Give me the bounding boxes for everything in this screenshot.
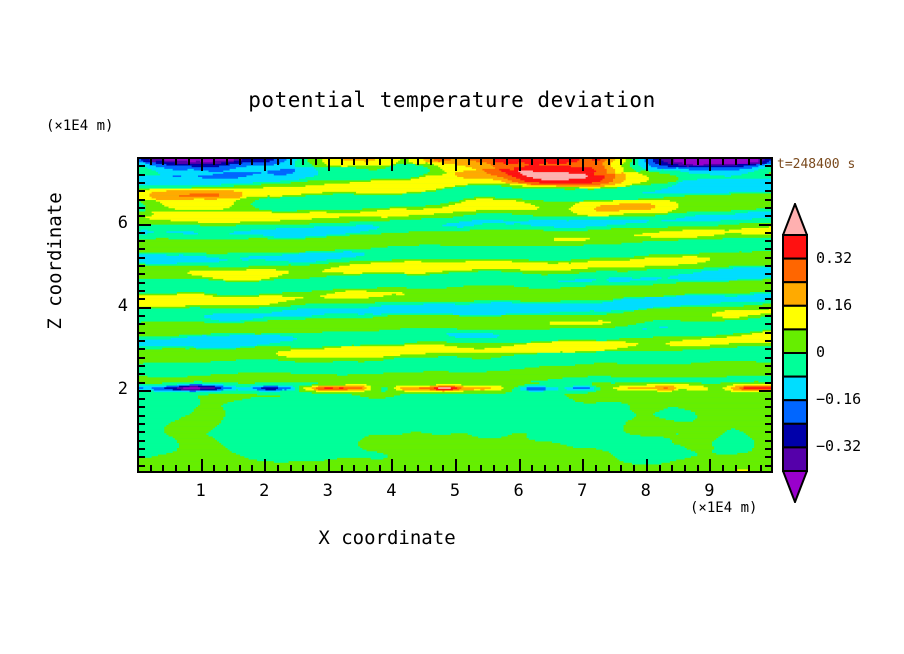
axis-tick	[138, 415, 145, 417]
axis-tick	[138, 456, 145, 458]
axis-tick	[684, 158, 686, 165]
axis-tick	[765, 440, 772, 442]
axis-tick	[480, 465, 482, 472]
axis-tick	[765, 165, 772, 167]
axis-tick	[138, 290, 145, 292]
axis-tick	[722, 465, 724, 472]
axis-tick	[251, 465, 253, 472]
axis-tick	[264, 158, 266, 171]
colorbar-gradient	[782, 203, 808, 503]
axis-tick	[138, 406, 145, 408]
axis-tick	[759, 307, 772, 309]
axis-tick	[341, 158, 343, 165]
axis-tick	[226, 465, 228, 472]
axis-tick	[328, 459, 330, 472]
axis-tick	[391, 158, 393, 171]
axis-tick	[366, 158, 368, 165]
axis-tick	[138, 248, 145, 250]
axis-tick	[557, 158, 559, 165]
y-tick-label: 6	[98, 213, 128, 233]
axis-tick	[722, 158, 724, 165]
axis-tick	[608, 465, 610, 472]
axis-tick	[379, 158, 381, 165]
axis-tick	[544, 465, 546, 472]
axis-tick	[315, 465, 317, 472]
axis-tick	[290, 158, 292, 165]
colorbar-tick-label: −0.16	[816, 390, 861, 408]
axis-tick	[277, 465, 279, 472]
axis-tick	[430, 158, 432, 165]
x-tick-label: 1	[186, 481, 216, 501]
axis-tick	[684, 465, 686, 472]
axis-tick	[765, 282, 772, 284]
axis-tick	[506, 465, 508, 472]
x-tick-label: 5	[440, 481, 470, 501]
axis-tick	[138, 448, 145, 450]
axis-tick	[277, 158, 279, 165]
axis-tick	[379, 465, 381, 472]
axis-tick	[239, 158, 241, 165]
axis-tick	[765, 298, 772, 300]
axis-tick	[150, 158, 152, 165]
axis-tick	[138, 215, 145, 217]
colorbar	[782, 203, 808, 503]
axis-tick	[188, 158, 190, 165]
axis-tick	[765, 240, 772, 242]
axis-tick	[138, 307, 151, 309]
axis-tick	[765, 257, 772, 259]
colorbar-tick-label: 0	[816, 343, 825, 361]
axis-tick	[138, 265, 145, 267]
axis-tick	[765, 398, 772, 400]
axis-tick	[138, 398, 145, 400]
axis-tick	[544, 158, 546, 165]
axis-tick	[138, 257, 145, 259]
axis-tick	[595, 465, 597, 472]
axis-tick	[138, 390, 151, 392]
axis-tick	[633, 158, 635, 165]
axis-tick	[765, 357, 772, 359]
axis-tick	[765, 174, 772, 176]
axis-tick	[709, 158, 711, 171]
colorbar-tick-label: 0.16	[816, 296, 852, 314]
x-tick-label: 6	[504, 481, 534, 501]
axis-tick	[442, 465, 444, 472]
x-tick-label: 4	[376, 481, 406, 501]
axis-tick	[765, 423, 772, 425]
axis-tick	[138, 273, 145, 275]
axis-tick	[735, 465, 737, 472]
axis-tick	[765, 190, 772, 192]
axis-tick	[765, 273, 772, 275]
axis-tick	[659, 465, 661, 472]
axis-tick	[671, 465, 673, 472]
axis-tick	[582, 459, 584, 472]
axis-tick	[506, 158, 508, 165]
axis-tick	[765, 315, 772, 317]
axis-tick	[646, 459, 648, 472]
axis-tick	[138, 315, 145, 317]
axis-tick	[569, 465, 571, 472]
y-axis-title: Z coordinate	[44, 181, 66, 341]
axis-tick	[531, 465, 533, 472]
axis-tick	[519, 459, 521, 472]
axis-tick	[138, 165, 145, 167]
x-tick-label: 3	[313, 481, 343, 501]
page-title: potential temperature deviation	[0, 88, 904, 112]
axis-tick	[748, 158, 750, 165]
axis-tick	[709, 459, 711, 472]
axis-tick	[595, 158, 597, 165]
x-tick-label: 9	[694, 481, 724, 501]
axis-tick	[366, 465, 368, 472]
axis-tick	[430, 465, 432, 472]
axis-tick	[138, 465, 145, 467]
axis-tick	[659, 158, 661, 165]
axis-tick	[213, 158, 215, 165]
x-tick-label: 2	[249, 481, 279, 501]
axis-tick	[138, 357, 145, 359]
axis-tick	[759, 390, 772, 392]
axis-tick	[531, 158, 533, 165]
axis-tick	[328, 158, 330, 171]
axis-tick	[765, 365, 772, 367]
axis-tick	[138, 340, 145, 342]
axis-tick	[315, 158, 317, 165]
axis-tick	[188, 465, 190, 472]
axis-tick	[735, 158, 737, 165]
axis-tick	[290, 465, 292, 472]
axis-tick	[138, 365, 145, 367]
axis-tick	[162, 158, 164, 165]
axis-tick	[620, 465, 622, 472]
colorbar-tick-label: −0.32	[816, 437, 861, 455]
axis-tick	[765, 373, 772, 375]
axis-tick	[417, 158, 419, 165]
axis-tick	[671, 158, 673, 165]
axis-tick	[417, 465, 419, 472]
axis-tick	[765, 340, 772, 342]
axis-tick	[391, 459, 393, 472]
axis-tick	[138, 174, 145, 176]
axis-tick	[765, 415, 772, 417]
axis-tick	[765, 232, 772, 234]
axis-tick	[646, 158, 648, 171]
y-tick-label: 4	[98, 296, 128, 316]
axis-tick	[765, 290, 772, 292]
axis-tick	[455, 158, 457, 171]
axis-tick	[138, 440, 145, 442]
axis-tick	[138, 332, 145, 334]
axis-tick	[138, 199, 145, 201]
colorbar-tick-label: 0.32	[816, 249, 852, 267]
axis-tick	[201, 158, 203, 171]
axis-tick	[765, 465, 772, 467]
axis-tick	[138, 373, 145, 375]
axis-tick	[608, 158, 610, 165]
axis-tick	[226, 158, 228, 165]
axis-tick	[138, 190, 145, 192]
timestamp-label: t=248400 s	[777, 157, 855, 172]
axis-tick	[138, 298, 145, 300]
axis-tick	[468, 158, 470, 165]
axis-tick	[213, 465, 215, 472]
axis-tick	[175, 465, 177, 472]
axis-tick	[759, 224, 772, 226]
axis-tick	[748, 465, 750, 472]
contour-field	[139, 159, 771, 471]
axis-tick	[302, 465, 304, 472]
axis-tick	[765, 448, 772, 450]
axis-tick	[765, 382, 772, 384]
axis-tick	[138, 323, 145, 325]
axis-tick	[138, 382, 145, 384]
axis-tick	[341, 465, 343, 472]
x-tick-label: 8	[631, 481, 661, 501]
axis-tick	[138, 240, 145, 242]
axis-tick	[493, 465, 495, 472]
axis-tick	[201, 459, 203, 472]
axis-tick	[138, 348, 145, 350]
axis-tick	[765, 406, 772, 408]
axis-tick	[582, 158, 584, 171]
axis-tick	[353, 465, 355, 472]
axis-tick	[442, 158, 444, 165]
axis-tick	[138, 207, 145, 209]
x-tick-label: 7	[567, 481, 597, 501]
y-axis-units-label: (×1E4 m)	[46, 118, 113, 134]
contour-plot-panel	[137, 157, 773, 473]
axis-tick	[138, 182, 145, 184]
axis-tick	[138, 282, 145, 284]
axis-tick	[765, 248, 772, 250]
axis-tick	[765, 215, 772, 217]
axis-tick	[493, 158, 495, 165]
axis-tick	[765, 265, 772, 267]
axis-tick	[162, 465, 164, 472]
axis-tick	[480, 158, 482, 165]
axis-tick	[519, 158, 521, 171]
axis-tick	[353, 158, 355, 165]
axis-tick	[251, 158, 253, 165]
axis-tick	[455, 459, 457, 472]
axis-tick	[150, 465, 152, 472]
axis-tick	[404, 158, 406, 165]
axis-tick	[697, 465, 699, 472]
axis-tick	[765, 207, 772, 209]
x-axis-units-label: (×1E4 m)	[690, 500, 757, 516]
axis-tick	[557, 465, 559, 472]
x-axis-title: X coordinate	[0, 527, 774, 549]
y-tick-label: 2	[98, 379, 128, 399]
axis-tick	[302, 158, 304, 165]
axis-tick	[697, 158, 699, 165]
axis-tick	[633, 465, 635, 472]
axis-tick	[765, 323, 772, 325]
axis-tick	[138, 224, 151, 226]
axis-tick	[175, 158, 177, 165]
axis-tick	[569, 158, 571, 165]
axis-tick	[765, 456, 772, 458]
axis-tick	[404, 465, 406, 472]
axis-tick	[468, 465, 470, 472]
axis-tick	[765, 348, 772, 350]
axis-tick	[760, 465, 762, 472]
axis-tick	[765, 431, 772, 433]
axis-tick	[765, 182, 772, 184]
axis-tick	[760, 158, 762, 165]
axis-tick	[765, 332, 772, 334]
axis-tick	[264, 459, 266, 472]
axis-tick	[620, 158, 622, 165]
axis-tick	[239, 465, 241, 472]
axis-tick	[765, 199, 772, 201]
axis-tick	[138, 423, 145, 425]
axis-tick	[138, 431, 145, 433]
axis-tick	[138, 232, 145, 234]
